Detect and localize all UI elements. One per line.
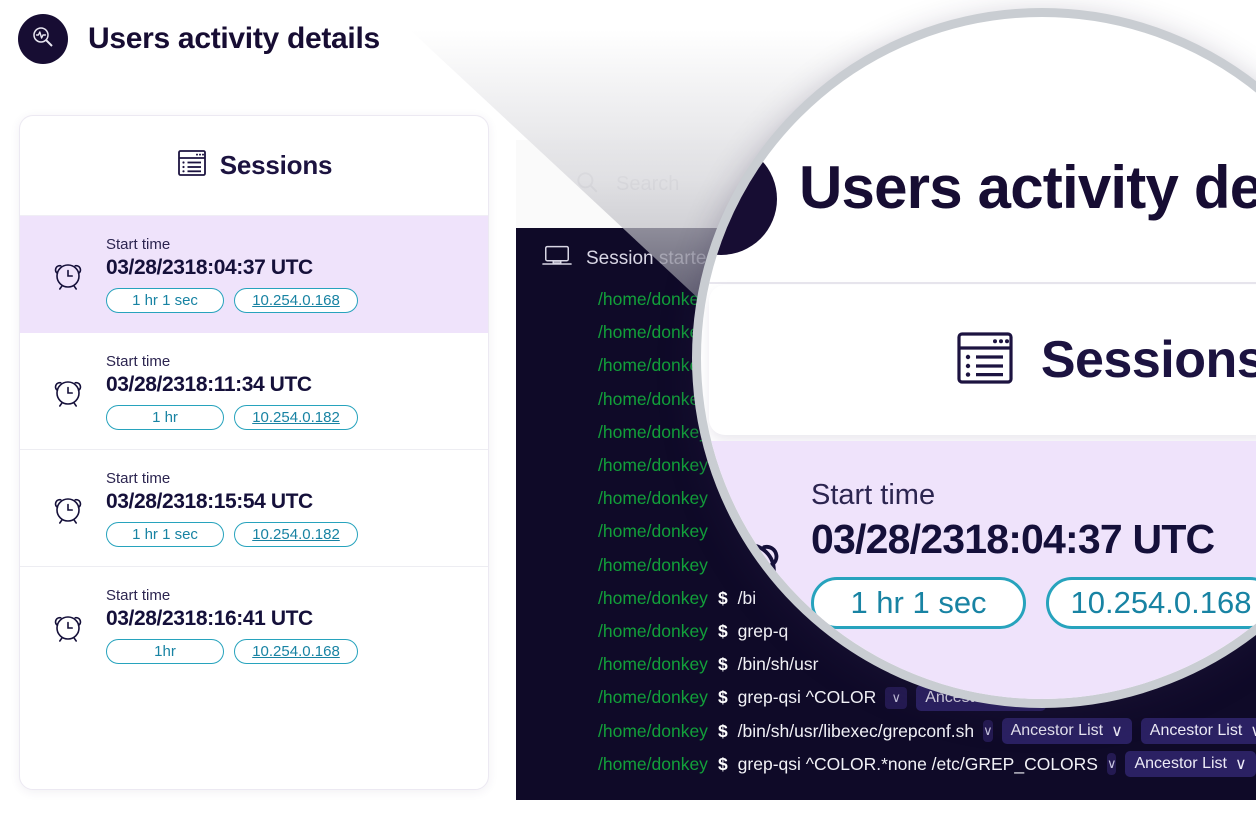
session-ip-chip[interactable]: 10.254.0.182 [234, 405, 358, 430]
ancestor-list-label: Ancestor List [1150, 722, 1242, 740]
activity-search-icon [29, 23, 57, 56]
magnified-header-badge [692, 143, 777, 255]
session-list-item[interactable]: Start time 03/28/2318:16:41 UTC 1hr 10.2… [20, 567, 488, 684]
chevron-down-icon[interactable]: ∨ [1107, 753, 1117, 775]
alarm-clock-icon [46, 254, 90, 294]
magnified-terminal-fragment: -q sh/usr [701, 577, 821, 708]
terminal-command: /bin/sh/usr/libexec/grepconf.sh [738, 721, 974, 742]
terminal-prompt-path: /home/donkey [598, 654, 708, 675]
magnified-divider [701, 282, 1256, 284]
chevron-down-icon: ∨ [1235, 754, 1247, 774]
page-title: Users activity details [88, 22, 380, 56]
ancestor-list-label: Ancestor List [1011, 722, 1103, 740]
session-duration-chip[interactable]: 1hr [106, 639, 224, 664]
alarm-clock-icon [46, 371, 90, 411]
terminal-prompt-path: /home/donkey [598, 455, 708, 476]
magnified-sessions-label: Sessions [1041, 330, 1256, 390]
magnified-row-label: Start time [811, 479, 1256, 512]
session-ip-chip[interactable]: 10.254.0.168 [234, 639, 358, 664]
magnified-frag-line: sh/usr [701, 599, 821, 621]
session-start-time-value: 03/28/2318:11:34 UTC [106, 373, 358, 397]
magnified-frag-line: -q [701, 577, 821, 599]
magnifier-lens-content: Users activity detail [701, 17, 1256, 708]
terminal-prompt-path: /home/donkey [598, 687, 708, 708]
ancestor-list-label: Ancestor List [1134, 755, 1226, 773]
session-start-time-label: Start time [106, 353, 358, 370]
terminal-session-title: Session started [586, 248, 717, 270]
header-badge [18, 14, 68, 64]
magnified-page-title: Users activity detail [799, 153, 1256, 222]
session-word: Session [586, 248, 654, 269]
magnified-sessions-header: Sessions [709, 285, 1256, 435]
ancestor-list-chip[interactable]: Ancestor List∨ [1002, 718, 1132, 744]
session-list: Start time 03/28/2318:04:37 UTC 1 hr 1 s… [20, 216, 488, 684]
terminal-prompt-symbol: $ [718, 721, 728, 742]
search-placeholder: Search [616, 173, 679, 196]
session-list-item[interactable]: Start time 03/28/2318:11:34 UTC 1 hr 10.… [20, 333, 488, 450]
session-start-time-label: Start time [106, 587, 358, 604]
app-root: Search Session started /home/donkey/home… [0, 0, 1256, 824]
session-duration-chip[interactable]: 1 hr 1 sec [106, 288, 224, 313]
terminal-command: grep-qsi ^COLOR.*none /etc/GREP_COLORS [738, 754, 1098, 775]
terminal-prompt-path: /home/donkey [598, 521, 708, 542]
session-start-time-label: Start time [106, 470, 358, 487]
terminal-line: /home/donkey$/bin/sh/usr/libexec/grepcon… [516, 714, 1256, 747]
terminal-prompt-path: /home/donkey [598, 588, 708, 609]
terminal-prompt-path: /home/donkey [598, 488, 708, 509]
alarm-clock-icon [46, 606, 90, 646]
magnified-ip-chip[interactable]: 10.254.0.168 [1046, 577, 1256, 629]
ancestor-list-chip[interactable]: Ancestor List∨ [1141, 718, 1256, 744]
terminal-line: /home/donkey$grep-qsi ^COLOR.*none /etc/… [516, 748, 1256, 781]
magnified-duration-chip[interactable]: 1 hr 1 sec [811, 577, 1026, 629]
laptop-icon [542, 244, 572, 273]
chevron-down-icon[interactable]: ∨ [983, 720, 993, 742]
session-duration-chip[interactable]: 1 hr [106, 405, 224, 430]
terminal-prompt-path: /home/donkey [598, 289, 708, 310]
sessions-card-header[interactable]: Sessions [20, 116, 488, 216]
terminal-prompt-path: /home/donkey [598, 422, 708, 443]
window-list-icon [953, 326, 1017, 395]
session-start-time-value: 03/28/2318:16:41 UTC [106, 607, 358, 631]
search-field[interactable]: Search [574, 169, 679, 200]
window-list-icon [176, 147, 208, 184]
session-start-time-label: Start time [106, 236, 358, 253]
session-ip-chip[interactable]: 10.254.0.168 [234, 288, 358, 313]
alarm-clock-icon [46, 488, 90, 528]
magnifier-lens: Users activity detail [692, 8, 1256, 708]
terminal-prompt-path: /home/donkey [598, 754, 708, 775]
session-list-item[interactable]: Start time 03/28/2318:15:54 UTC 1 hr 1 s… [20, 450, 488, 567]
session-duration-chip[interactable]: 1 hr 1 sec [106, 522, 224, 547]
search-icon [574, 169, 600, 200]
session-ip-chip[interactable]: 10.254.0.182 [234, 522, 358, 547]
page-header: Users activity details [18, 14, 380, 64]
session-start-time-value: 03/28/2318:15:54 UTC [106, 490, 358, 514]
chevron-down-icon: ∨ [1250, 721, 1256, 741]
terminal-prompt-path: /home/donkey [598, 389, 708, 410]
magnified-row-time: 03/28/2318:04:37 UTC [811, 516, 1256, 563]
chevron-down-icon: ∨ [1111, 721, 1123, 741]
ancestor-list-chip[interactable]: Ancestor List∨ [1125, 751, 1255, 777]
session-start-time-value: 03/28/2318:04:37 UTC [106, 256, 358, 280]
terminal-prompt-path: /home/donkey [598, 555, 708, 576]
terminal-prompt-path: /home/donkey [598, 621, 708, 642]
sessions-header-label: Sessions [220, 150, 333, 181]
session-list-item[interactable]: Start time 03/28/2318:04:37 UTC 1 hr 1 s… [20, 216, 488, 333]
sessions-card: Sessions Start time 03/28/2318:04:37 UTC… [19, 115, 489, 790]
terminal-prompt-symbol: $ [718, 754, 728, 775]
terminal-prompt-path: /home/donkey [598, 721, 708, 742]
